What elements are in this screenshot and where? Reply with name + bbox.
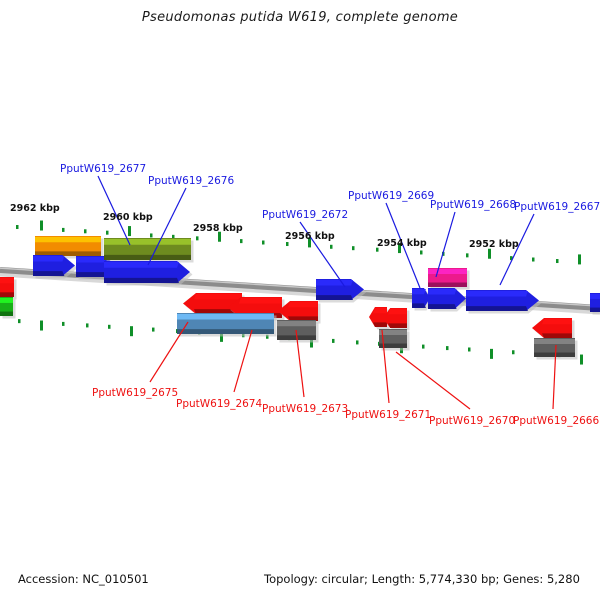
feature-highlight [76,257,107,262]
feature-olive-2676[interactable] [104,238,194,263]
gene-label-reverse-4[interactable]: PputW619_2670 [429,415,515,427]
feature-shade [388,323,407,328]
scale-tick [332,339,335,343]
accession-text: Accession: NC_010501 [18,572,149,586]
feature-highlight [0,278,14,283]
scale-tick [86,323,89,327]
scale-tick [40,221,43,231]
gene-2666-reverse[interactable] [532,318,575,341]
feature-shade [466,306,528,311]
feature-highlight [428,289,457,294]
scale-label-0: 2962 kbp [10,203,60,214]
feature-shade [0,292,14,297]
scale-tick [130,326,133,336]
scale-tick [488,249,491,259]
gene-label-forward-2[interactable]: PputW619_2672 [262,209,348,221]
gene-2667-forward[interactable] [466,290,542,314]
leader-line [396,352,470,409]
feature-shade [76,272,107,277]
feature-red-edge-left[interactable] [0,277,17,300]
feature-shade [33,271,64,276]
scale-tick [466,253,469,257]
scale-tick [152,328,155,332]
feature-shade [590,308,600,312]
gene-label-reverse-2[interactable]: PputW619_2673 [262,403,348,415]
scale-tick [532,258,535,262]
feature-gray-2673[interactable] [277,320,319,343]
scale-tick [286,242,289,246]
feature-highlight [239,298,282,303]
scale-tick [512,350,515,354]
scale-tick [150,233,153,237]
gene-label-reverse-5[interactable]: PputW619_2666 [513,415,599,427]
scale-tick [556,259,559,263]
feature-shade [316,295,353,300]
scale-tick [420,250,423,254]
feature-highlight [194,294,242,299]
genome-stats-text: Topology: circular; Length: 5,774,330 bp… [264,572,580,586]
scale-tick [422,345,425,349]
feature-shade [104,255,191,260]
feature-highlight [104,239,191,245]
feature-shade [0,312,13,316]
gene-label-forward-4[interactable]: PputW619_2668 [430,199,516,211]
scale-tick [40,321,43,331]
feature-highlight [277,321,316,326]
scale-tick [240,239,243,243]
scale-tick [84,229,87,233]
feature-shade [542,333,572,338]
gene-label-reverse-1[interactable]: PputW619_2674 [176,398,262,410]
scale-tick [16,225,19,229]
feature-shade [428,283,467,287]
feature-shade [534,353,575,357]
feature-shade [412,303,426,308]
scale-tick [356,340,359,344]
scale-tick [446,346,449,350]
scale-tick [262,241,265,245]
leader-line [436,212,455,277]
scale-tick [18,319,21,323]
feature-steelblue-2674[interactable] [177,313,277,337]
gene-label-forward-5[interactable]: PputW619_2667 [514,201,600,213]
leader-line [234,330,252,392]
scale-tick [196,236,199,240]
feature-highlight [35,237,101,242]
scale-tick [330,245,333,249]
gene-2668-forward[interactable] [428,288,469,312]
scale-tick [352,246,355,250]
feature-magenta-2668[interactable] [428,268,470,290]
gene-label-reverse-0[interactable]: PputW619_2675 [92,387,178,399]
feature-highlight [104,262,179,268]
scale-label-1: 2960 kbp [103,212,153,223]
feature-highlight [373,308,387,313]
feature-highlight [379,330,407,335]
feature-highlight [316,280,353,285]
scale-tick [468,347,471,351]
scale-label-2: 2958 kbp [193,223,243,234]
gene-feature-layer[interactable] [0,236,600,360]
scale-tick [106,231,109,235]
feature-highlight [177,314,274,319]
scale-tick [62,228,65,232]
gene-label-reverse-3[interactable]: PputW619_2671 [345,409,431,421]
gene-label-forward-3[interactable]: PputW619_2669 [348,190,434,202]
feature-highlight [428,269,467,274]
feature-highlight [534,339,575,344]
genome-map-canvas[interactable] [0,0,600,600]
scale-tick [578,254,581,264]
scale-tick [62,322,65,326]
scale-tick [490,349,493,359]
feature-shade [373,322,387,327]
scale-label-3: 2956 kbp [285,231,335,242]
feature-shade [104,278,179,283]
gene-edge-right-forward[interactable] [590,293,600,315]
scale-label-5: 2952 kbp [469,239,519,250]
feature-highlight [33,256,64,261]
leader-line [150,322,188,382]
scale-label-4: 2954 kbp [377,238,427,249]
gene-label-forward-0[interactable]: PputW619_2677 [60,163,146,175]
feature-highlight [0,298,13,303]
feature-highlight [412,289,426,294]
feature-highlight [542,319,572,324]
feature-highlight [388,309,407,314]
scale-tick [108,325,111,329]
scale-tick [580,355,583,365]
feature-shade [428,304,457,309]
genome-map-viewer: Pseudomonas putida W619, complete genome… [0,0,600,600]
feature-highlight [466,291,528,296]
feature-highlight [288,302,318,307]
scale-tick [128,226,131,236]
leader-line [98,176,130,245]
feature-shade [177,329,274,334]
gene-label-forward-1[interactable]: PputW619_2676 [148,175,234,187]
feature-highlight [590,294,600,299]
feature-green-edge-left[interactable] [0,297,16,319]
